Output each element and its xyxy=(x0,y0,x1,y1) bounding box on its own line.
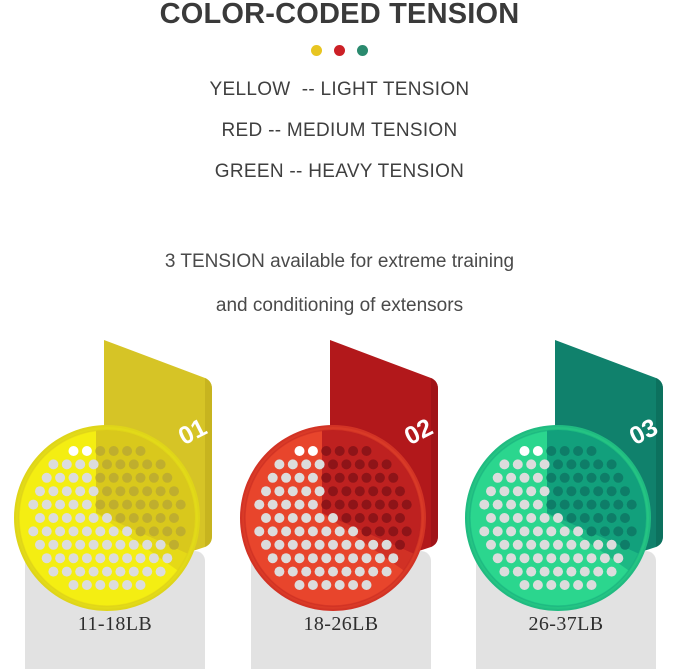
product-unit-02: 18-26LB 02 xyxy=(228,335,454,669)
description-line-2: and conditioning of extensors xyxy=(0,296,679,315)
description-line-1: 3 TENSION available for extreme training xyxy=(0,252,679,271)
color-dot-row xyxy=(0,45,679,56)
product-unit-03: 26-37LB 03 xyxy=(453,335,679,669)
weight-label-03: 26-37LB xyxy=(476,613,656,636)
legend-line-green: GREEN -- HEAVY TENSION xyxy=(0,162,679,181)
tension-legend: YELLOW -- LIGHT TENSION RED -- MEDIUM TE… xyxy=(0,80,679,203)
product-unit-01: 11-18LB 01 xyxy=(2,335,228,669)
infographic-page: COLOR-CODED TENSION YELLOW -- LIGHT TENS… xyxy=(0,0,679,669)
page-title: COLOR-CODED TENSION xyxy=(0,0,679,31)
product-row: 11-18LB 01 18-26LB 02 26-3 xyxy=(0,335,679,669)
weight-label-02: 18-26LB xyxy=(251,613,431,636)
grip-disc-03 xyxy=(461,421,655,615)
grip-disc-02 xyxy=(236,421,430,615)
grip-disc-01 xyxy=(10,421,204,615)
red-dot xyxy=(334,45,345,56)
legend-line-yellow: YELLOW -- LIGHT TENSION xyxy=(0,80,679,99)
description-block: 3 TENSION available for extreme training… xyxy=(0,252,679,340)
yellow-dot xyxy=(311,45,322,56)
legend-line-red: RED -- MEDIUM TENSION xyxy=(0,121,679,140)
weight-label-01: 11-18LB xyxy=(25,613,205,636)
green-dot xyxy=(357,45,368,56)
